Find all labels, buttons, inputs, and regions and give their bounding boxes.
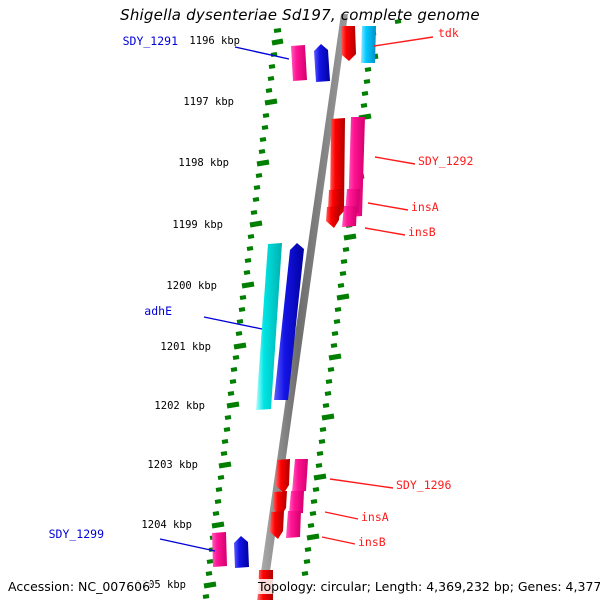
ruler-tick-label: 1201 kbp [149, 341, 211, 353]
gene-label-sdy-1291[interactable]: SDY_1291 [106, 34, 178, 48]
gene-feature-insb-upper-red[interactable] [326, 206, 340, 228]
gene-label-sdy-1296[interactable]: SDY_1296 [396, 478, 451, 492]
accession-status: Accession: NC_007606 [8, 579, 150, 594]
gene-feature-tdk-cyan[interactable] [361, 26, 376, 63]
gene-feature-insb-upper-magenta[interactable] [342, 206, 357, 227]
gene-label-insa-upper[interactable]: insA [411, 200, 439, 214]
ruler-tick-label: 1197 kbp [172, 96, 234, 108]
gene-feature-sdy1296-magenta[interactable] [292, 459, 308, 492]
ruler-tick-label: 1196 kbp [178, 35, 240, 47]
gene-feature-sdy1291-magenta[interactable] [291, 45, 307, 81]
leader-lines-right [322, 37, 433, 544]
gene-label-sdy-1292[interactable]: SDY_1292 [418, 154, 473, 168]
ruler-tick-label: 1202 kbp [143, 400, 205, 412]
page-title: Shigella dysenteriae Sd197, complete gen… [0, 6, 600, 24]
gene-label-sdy-1299[interactable]: SDY_1299 [32, 527, 104, 541]
ruler-tick-label: 1203 kbp [136, 459, 198, 471]
gene-label-adhe[interactable]: adhE [132, 304, 172, 318]
gene-feature-insa-lower-magenta[interactable] [289, 491, 304, 514]
topology-status: Topology: circular; Length: 4,369,232 bp… [258, 579, 600, 594]
gene-feature-sdy1299-magenta[interactable] [212, 532, 227, 567]
genome-viewer-canvas[interactable]: Shigella dysenteriae Sd197, complete gen… [0, 0, 600, 600]
gene-feature-tdk-red[interactable] [341, 26, 356, 61]
gene-feature-sdy1291-blue[interactable] [314, 44, 330, 82]
ruler-tick-label: 1204 kbp [130, 519, 192, 531]
ruler-track-right [302, 21, 401, 574]
ruler-tick-label: 1198 kbp [167, 157, 229, 169]
gene-label-insa-lower[interactable]: insA [361, 510, 389, 524]
ruler-tick-label: 1200 kbp [155, 280, 217, 292]
ruler-tick-label: 1199 kbp [161, 219, 223, 231]
gene-label-insb-upper[interactable]: insB [408, 225, 436, 239]
genome-map-svg[interactable] [0, 0, 600, 600]
gene-feature-sdy1299-blue[interactable] [234, 536, 249, 568]
gene-feature-insb-lower-magenta[interactable] [286, 511, 301, 538]
gene-label-tdk[interactable]: tdk [438, 26, 459, 40]
gene-label-insb-lower[interactable]: insB [358, 535, 386, 549]
